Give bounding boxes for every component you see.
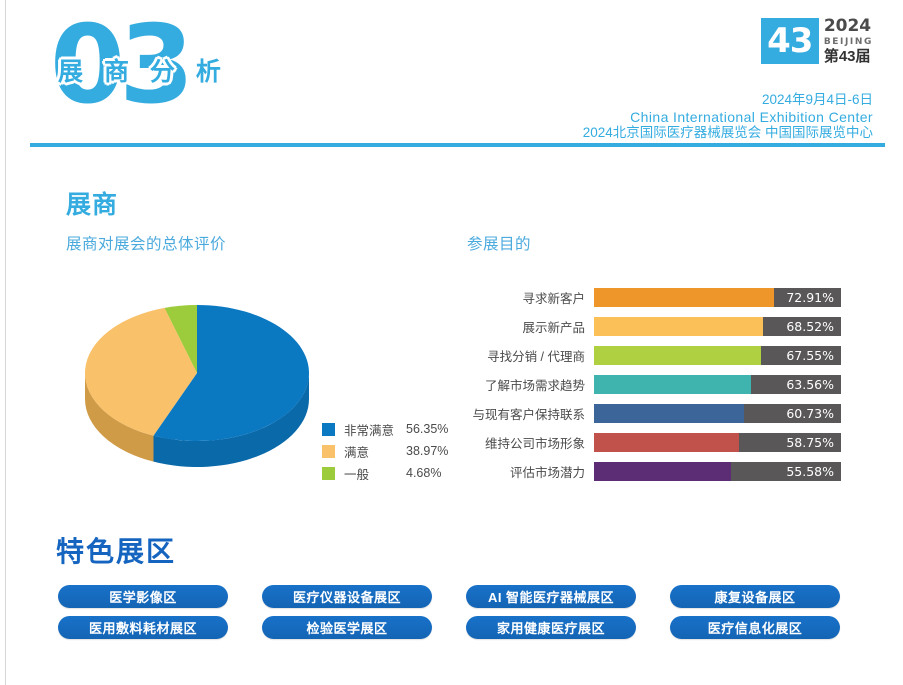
pie-top-slices [85, 305, 309, 441]
bar-row: 了解市场需求趋势63.56% [467, 375, 847, 394]
legend-item: 非常满意56.35% [322, 418, 448, 440]
event-date: 2024年9月4日-6日 [583, 92, 873, 109]
bar-row: 寻求新客户72.91% [467, 288, 847, 307]
bar-value-label: 72.91% [786, 288, 834, 307]
event-logo: 43 2024 BEIJING 第43届 [761, 18, 873, 64]
legend-swatch-icon [322, 423, 335, 436]
bar-row: 展示新产品68.52% [467, 317, 847, 336]
pie-chart-svg [80, 290, 315, 475]
bar-value-label: 67.55% [786, 346, 834, 365]
bar-row: 寻找分销 / 代理商67.55% [467, 346, 847, 365]
legend-swatch-icon [322, 467, 335, 480]
pie-chart-title: 展商对展会的总体评价 [66, 232, 226, 254]
page-title: 展商 [66, 185, 118, 221]
bar-track: 63.56% [594, 375, 841, 394]
bar-value-label: 60.73% [786, 404, 834, 423]
bar-fill [594, 375, 751, 394]
logo-year: 2024 [824, 18, 873, 35]
logo-number: 43 [767, 24, 812, 58]
bar-value-label: 58.75% [786, 433, 834, 452]
zones-grid: 医学影像区医疗仪器设备展区AI 智能医疗器械展区康复设备展区医用敷料耗材展区检验… [58, 585, 848, 647]
bar-track: 72.91% [594, 288, 841, 307]
bar-fill [594, 288, 774, 307]
bar-value-label: 55.58% [786, 462, 834, 481]
zone-button[interactable]: 医用敷料耗材展区 [58, 616, 228, 639]
legend-item: 满意38.97% [322, 440, 448, 462]
zone-row: 医学影像区医疗仪器设备展区AI 智能医疗器械展区康复设备展区 [58, 585, 848, 608]
header-event-info: 2024年9月4日-6日 China International Exhibit… [583, 92, 873, 142]
logo-text-block: 2024 BEIJING 第43届 [824, 18, 873, 64]
legend-label: 非常满意 [344, 420, 406, 439]
pie-chart [80, 290, 315, 475]
bar-fill [594, 462, 731, 481]
zone-button[interactable]: 医学影像区 [58, 585, 228, 608]
zone-button[interactable]: AI 智能医疗器械展区 [466, 585, 636, 608]
bar-category-label: 了解市场需求趋势 [467, 375, 585, 394]
bar-fill [594, 404, 744, 423]
logo-city: BEIJING [824, 37, 873, 47]
zone-button[interactable]: 医疗仪器设备展区 [262, 585, 432, 608]
legend-value: 38.97% [406, 444, 448, 458]
logo-edition: 第43届 [824, 49, 873, 64]
venue-english: China International Exhibition Center [583, 109, 873, 126]
bar-track: 55.58% [594, 462, 841, 481]
bar-chart: 寻求新客户72.91%展示新产品68.52%寻找分销 / 代理商67.55%了解… [467, 288, 847, 491]
bar-track: 68.52% [594, 317, 841, 336]
zone-button[interactable]: 家用健康医疗展区 [466, 616, 636, 639]
venue-chinese: 2024北京国际医疗器械展览会 中国国际展览中心 [583, 125, 873, 142]
bar-category-label: 展示新产品 [467, 317, 585, 336]
bar-category-label: 寻找分销 / 代理商 [467, 346, 585, 365]
bar-row: 评估市场潜力55.58% [467, 462, 847, 481]
bar-track: 58.75% [594, 433, 841, 452]
legend-value: 56.35% [406, 422, 448, 436]
header-divider [30, 143, 885, 147]
legend-swatch-icon [322, 445, 335, 458]
zone-row: 医用敷料耗材展区检验医学展区家用健康医疗展区医疗信息化展区 [58, 616, 848, 639]
bar-row: 与现有客户保持联系60.73% [467, 404, 847, 423]
bar-chart-title: 参展目的 [467, 232, 531, 254]
section-subtitle: 展 商 分 析 [58, 58, 228, 86]
legend-label: 一般 [344, 464, 406, 483]
zones-title: 特色展区 [56, 530, 176, 570]
bar-value-label: 63.56% [786, 375, 834, 394]
legend-value: 4.68% [406, 466, 441, 480]
legend-label: 满意 [344, 442, 406, 461]
zone-button[interactable]: 检验医学展区 [262, 616, 432, 639]
bar-fill [594, 346, 761, 365]
page-left-border [5, 0, 6, 685]
bar-track: 67.55% [594, 346, 841, 365]
bar-row: 维持公司市场形象58.75% [467, 433, 847, 452]
bar-category-label: 寻求新客户 [467, 288, 585, 307]
zone-button[interactable]: 康复设备展区 [670, 585, 840, 608]
bar-fill [594, 433, 739, 452]
pie-chart-legend: 非常满意56.35%满意38.97%一般4.68% [322, 418, 448, 484]
logo-number-box: 43 [761, 18, 819, 64]
zone-button[interactable]: 医疗信息化展区 [670, 616, 840, 639]
bar-value-label: 68.52% [786, 317, 834, 336]
bar-fill [594, 317, 763, 336]
slide-page: 03 展 商 分 析 43 2024 BEIJING 第43届 2024年9月4… [0, 0, 903, 685]
bar-category-label: 评估市场潜力 [467, 462, 585, 481]
legend-item: 一般4.68% [322, 462, 448, 484]
bar-category-label: 与现有客户保持联系 [467, 404, 585, 423]
bar-category-label: 维持公司市场形象 [467, 433, 585, 452]
bar-track: 60.73% [594, 404, 841, 423]
